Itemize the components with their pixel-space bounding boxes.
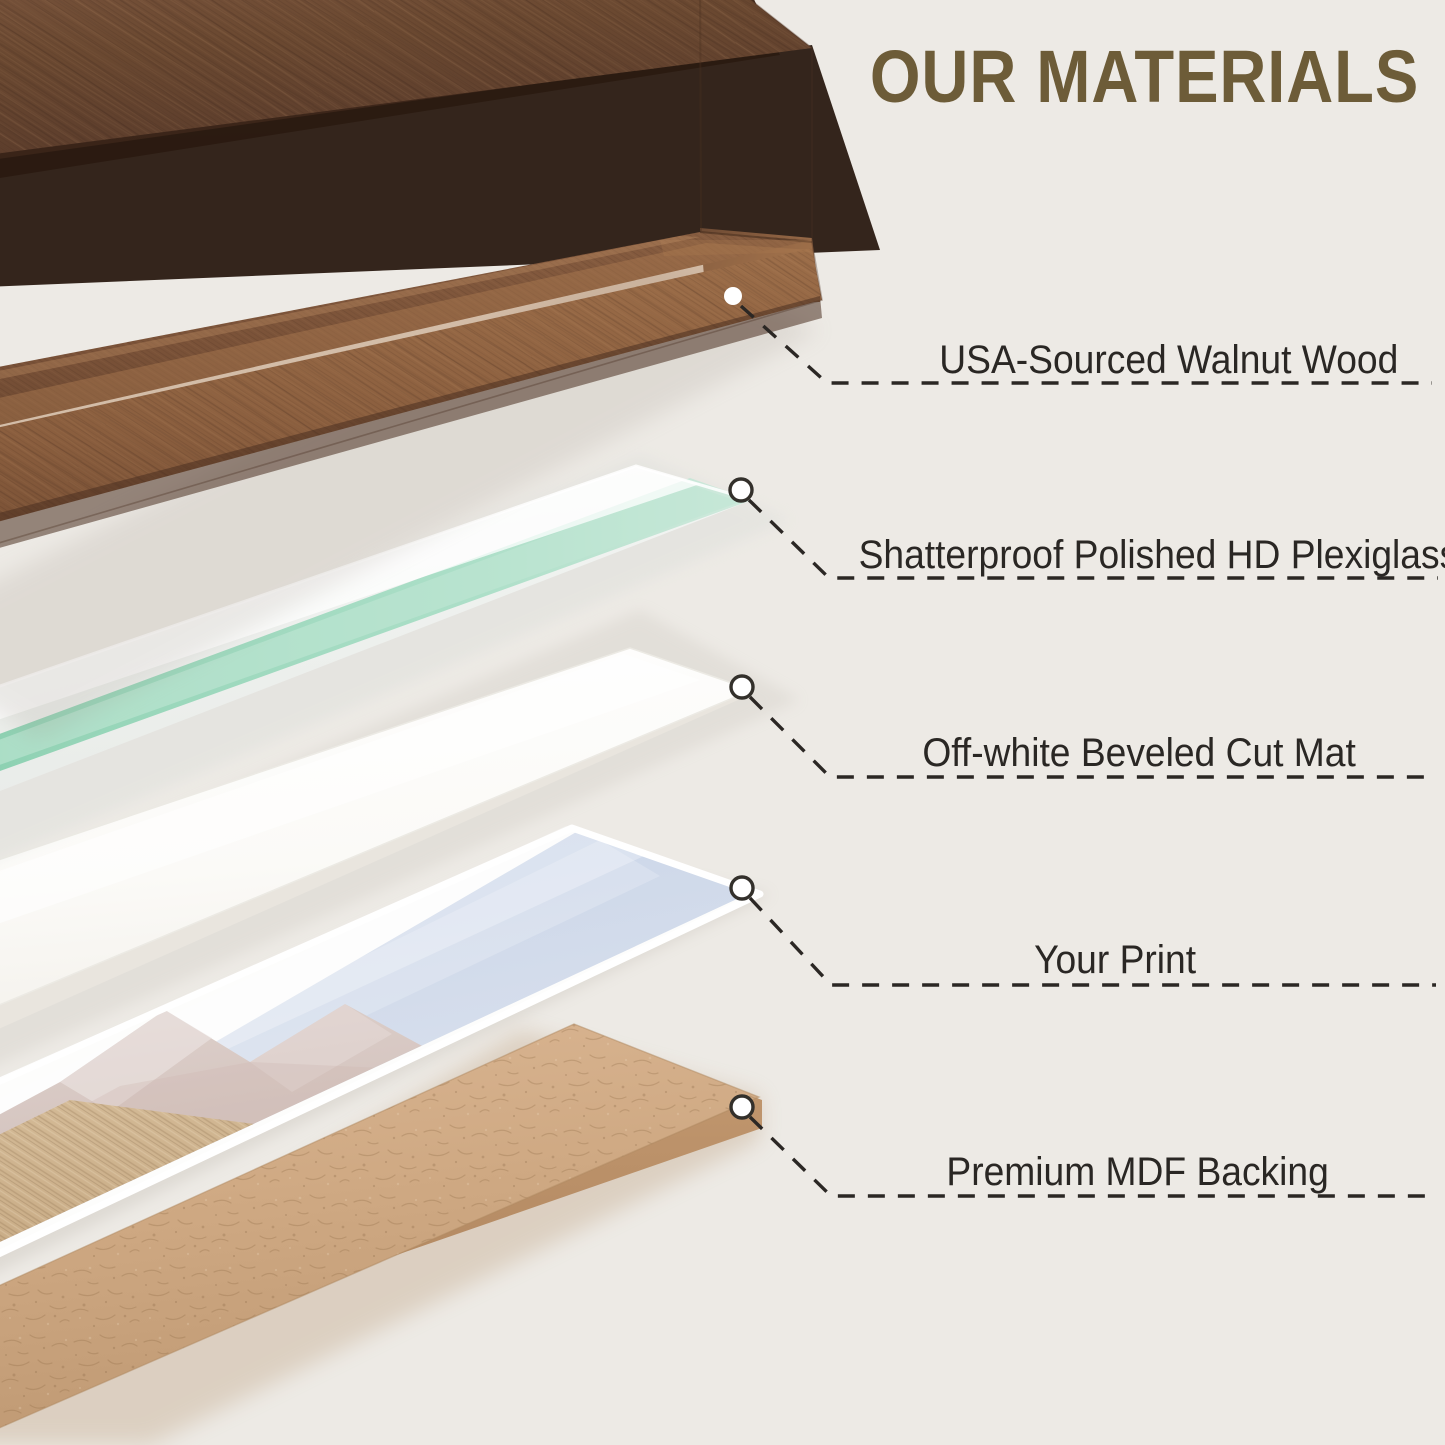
callout-marker-print[interactable]	[731, 877, 753, 899]
callout-marker-mat[interactable]	[731, 676, 753, 698]
callout-label-plexiglass: Shatterproof Polished HD Plexiglass	[859, 535, 1445, 575]
callout-marker-mdf[interactable]	[731, 1096, 753, 1118]
callout-label-mdf: Premium MDF Backing	[946, 1152, 1328, 1192]
callout-marker-walnut[interactable]	[724, 287, 742, 305]
page-title: OUR MATERIALS	[870, 40, 1419, 114]
callout-label-print: Your Print	[1034, 940, 1196, 980]
callout-label-walnut: USA-Sourced Walnut Wood	[939, 340, 1398, 380]
callout-label-mat: Off-white Beveled Cut Mat	[922, 733, 1356, 773]
callout-marker-plexiglass[interactable]	[730, 479, 752, 501]
infographic-canvas: OUR MATERIALS USA-Sourced Walnut WoodSha…	[0, 0, 1445, 1445]
callout-overlay	[0, 0, 1445, 1445]
